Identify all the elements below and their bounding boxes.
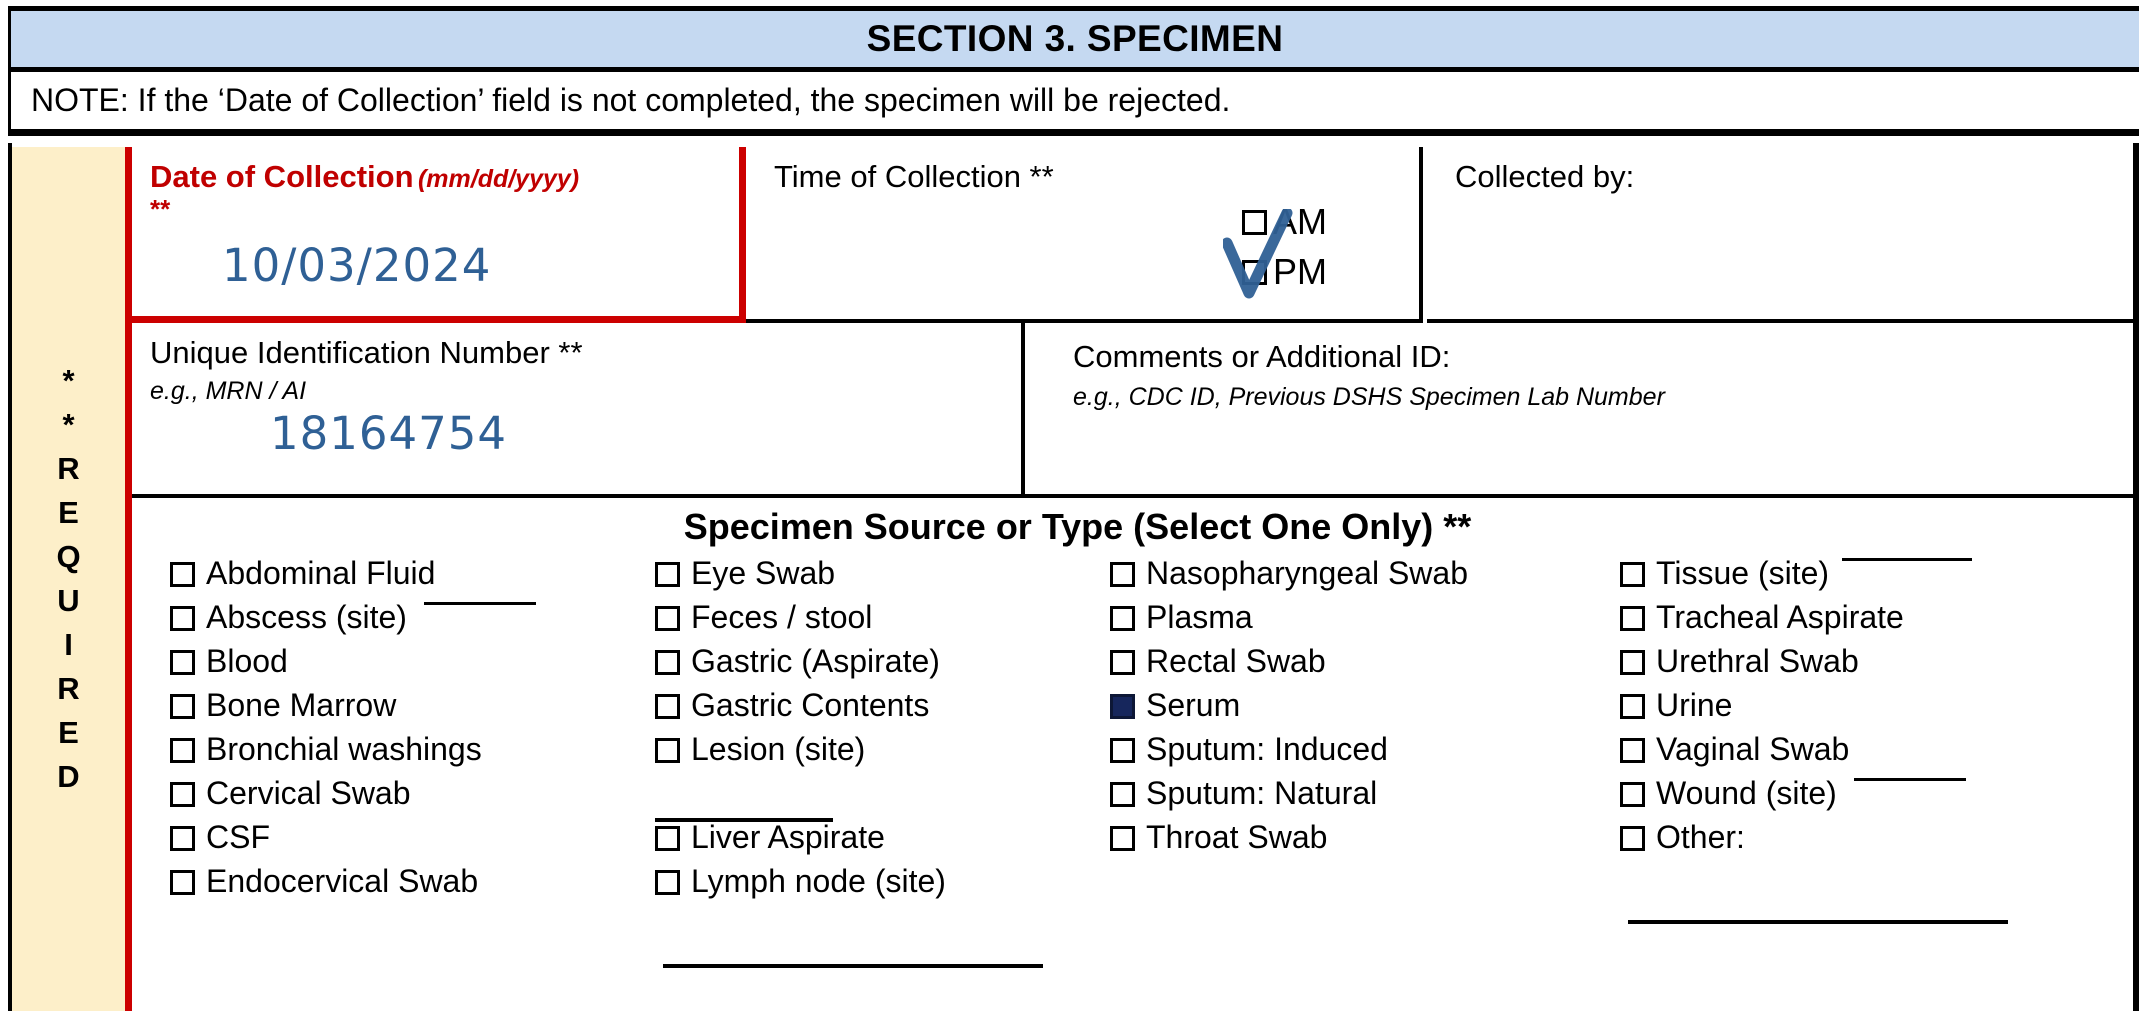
write-in-line[interactable]	[1854, 778, 1966, 781]
specimen-option-label: Throat Swab	[1146, 822, 1327, 852]
comments-label: Comments or Additional ID:	[1073, 339, 1450, 374]
specimen-option-label: Vaginal Swab	[1656, 734, 1849, 764]
note-text: NOTE: If the ‘Date of Collection’ field …	[11, 82, 1230, 119]
specimen-option-label: Other:	[1656, 822, 1745, 852]
specimen-option[interactable]: Rectal Swab	[1110, 646, 1620, 690]
unique-identification-number-cell[interactable]: Unique Identification Number ** e.g., MR…	[132, 323, 1025, 498]
specimen-option-label: Sputum: Induced	[1146, 734, 1388, 764]
specimen-option[interactable]: Other:	[1620, 822, 2100, 866]
required-char-9: D	[57, 755, 79, 799]
date-of-collection-cell[interactable]: Date of Collection (mm/dd/yyyy) ** 10/03…	[132, 147, 746, 323]
specimen-option[interactable]: Cervical Swab	[170, 778, 655, 822]
specimen-option[interactable]: Endocervical Swab	[170, 866, 655, 910]
write-in-line[interactable]	[663, 964, 1043, 968]
specimen-option[interactable]: Bone Marrow	[170, 690, 655, 734]
specimen-option-label: Rectal Swab	[1146, 646, 1326, 676]
checkbox-icon[interactable]	[1110, 694, 1135, 719]
specimen-option[interactable]: Blood	[170, 646, 655, 690]
specimen-source-title: Specimen Source or Type (Select One Only…	[132, 498, 2133, 548]
specimen-option[interactable]: Tracheal Aspirate	[1620, 602, 2100, 646]
checkbox-icon[interactable]	[655, 694, 680, 719]
am-checkbox-icon[interactable]	[1242, 210, 1267, 235]
specimen-blank-line[interactable]	[655, 910, 1110, 968]
time-of-collection-label: Time of Collection **	[774, 159, 1054, 194]
comments-or-additional-id-cell[interactable]: Comments or Additional ID: e.g., CDC ID,…	[1025, 323, 2133, 498]
checkbox-icon[interactable]	[170, 870, 195, 895]
required-red-divider	[125, 147, 132, 1011]
specimen-blank-line[interactable]	[1620, 866, 2100, 924]
unique-id-label: Unique Identification Number **	[150, 335, 583, 370]
checkbox-icon[interactable]	[1110, 782, 1135, 807]
specimen-option-label: Wound (site)	[1656, 778, 1837, 808]
checkbox-icon[interactable]	[1620, 606, 1645, 631]
pm-label: PM	[1273, 251, 1327, 293]
required-char-5: U	[57, 579, 79, 623]
specimen-option[interactable]: Sputum: Induced	[1110, 734, 1620, 778]
checkbox-icon[interactable]	[655, 738, 680, 763]
specimen-option-label: CSF	[206, 822, 270, 852]
pm-option[interactable]: PM	[1242, 251, 1327, 293]
specimen-form-page: SECTION 3. SPECIMEN NOTE: If the ‘Date o…	[0, 0, 2145, 1018]
checkbox-icon[interactable]	[1110, 562, 1135, 587]
specimen-option[interactable]: Urethral Swab	[1620, 646, 2100, 690]
specimen-option-label: Lymph node (site)	[691, 866, 946, 896]
specimen-option-label: Cervical Swab	[206, 778, 411, 808]
specimen-option-label: Urine	[1656, 690, 1732, 720]
specimen-option-label: Serum	[1146, 690, 1240, 720]
checkbox-icon[interactable]	[655, 562, 680, 587]
checkbox-icon[interactable]	[170, 826, 195, 851]
specimen-option-label: Eye Swab	[691, 558, 835, 588]
specimen-option-label: Gastric Contents	[691, 690, 929, 720]
checkbox-icon[interactable]	[1110, 738, 1135, 763]
unique-id-value[interactable]: 18164754	[132, 405, 1021, 460]
specimen-option[interactable]: Gastric (Aspirate)	[655, 646, 1110, 690]
specimen-source-section: Specimen Source or Type (Select One Only…	[132, 498, 2133, 1011]
specimen-option-label: Plasma	[1146, 602, 1253, 632]
checkbox-icon[interactable]	[170, 650, 195, 675]
specimen-option-label: Nasopharyngeal Swab	[1146, 558, 1468, 588]
checkbox-icon[interactable]	[655, 870, 680, 895]
section-header: SECTION 3. SPECIMEN	[8, 6, 2139, 72]
specimen-option[interactable]: Abdominal Fluid	[170, 558, 655, 602]
checkbox-icon[interactable]	[170, 562, 195, 587]
specimen-option-label: Liver Aspirate	[691, 822, 885, 852]
specimen-option[interactable]: Abscess (site)	[170, 602, 655, 646]
specimen-blank-line[interactable]	[655, 778, 1110, 822]
checkbox-icon[interactable]	[1620, 826, 1645, 851]
specimen-option-label: Feces / stool	[691, 602, 872, 632]
specimen-option-label: Lesion (site)	[691, 734, 865, 764]
collected-by-cell[interactable]: Collected by:	[1427, 147, 2133, 323]
checkbox-icon[interactable]	[655, 826, 680, 851]
comments-hint: e.g., CDC ID, Previous DSHS Specimen Lab…	[1073, 383, 1665, 411]
specimen-option[interactable]: CSF	[170, 822, 655, 866]
specimen-option[interactable]: Lesion (site)	[655, 734, 1110, 778]
specimen-option-label: Bone Marrow	[206, 690, 396, 720]
date-of-collection-value[interactable]: 10/03/2024	[132, 225, 739, 292]
specimen-option[interactable]: Gastric Contents	[655, 690, 1110, 734]
checkbox-icon[interactable]	[1620, 694, 1645, 719]
collected-by-label: Collected by:	[1455, 159, 1634, 194]
checkbox-icon[interactable]	[170, 606, 195, 631]
specimen-option-label: Tracheal Aspirate	[1656, 602, 1904, 632]
am-option[interactable]: AM	[1242, 201, 1327, 243]
specimen-column-4: Tissue (site)Tracheal AspirateUrethral S…	[1620, 558, 2100, 968]
required-char-7: R	[57, 667, 79, 711]
date-format-hint: (mm/dd/yyyy)	[418, 165, 579, 193]
checkbox-icon[interactable]	[1110, 606, 1135, 631]
specimen-option[interactable]: Throat Swab	[1110, 822, 1620, 866]
required-char-0: *	[62, 359, 74, 403]
required-sidebar: * * R E Q U I R E D	[12, 147, 125, 1011]
section-header-title: SECTION 3. SPECIMEN	[867, 18, 1284, 60]
required-char-4: Q	[56, 535, 80, 579]
specimen-column-2: Eye SwabFeces / stoolGastric (Aspirate)G…	[655, 558, 1110, 968]
checkbox-icon[interactable]	[170, 738, 195, 763]
pm-checkbox-icon[interactable]	[1242, 260, 1267, 285]
specimen-option-label: Blood	[206, 646, 288, 676]
specimen-option[interactable]: Nasopharyngeal Swab	[1110, 558, 1620, 602]
specimen-option-label: Tissue (site)	[1656, 558, 1829, 588]
specimen-option[interactable]: Bronchial washings	[170, 734, 655, 778]
date-required-marker: **	[150, 195, 739, 225]
specimen-option-label: Endocervical Swab	[206, 866, 478, 896]
checkbox-icon[interactable]	[1110, 826, 1135, 851]
specimen-option[interactable]: Vaginal Swab	[1620, 734, 2100, 778]
specimen-option-label: Abscess (site)	[206, 602, 407, 632]
specimen-option-label: Sputum: Natural	[1146, 778, 1377, 808]
specimen-option[interactable]: Serum	[1110, 690, 1620, 734]
specimen-option[interactable]: Feces / stool	[655, 602, 1110, 646]
checkbox-icon[interactable]	[170, 694, 195, 719]
specimen-option[interactable]: Urine	[1620, 690, 2100, 734]
note-row: NOTE: If the ‘Date of Collection’ field …	[8, 72, 2139, 136]
checkbox-icon[interactable]	[1620, 782, 1645, 807]
write-in-line[interactable]	[1628, 920, 2008, 924]
specimen-option[interactable]: Sputum: Natural	[1110, 778, 1620, 822]
specimen-option-label: Gastric (Aspirate)	[691, 646, 940, 676]
specimen-option-label: Abdominal Fluid	[206, 558, 435, 588]
specimen-option-columns: Abdominal FluidAbscess (site)BloodBone M…	[132, 548, 2133, 968]
required-char-1: *	[62, 403, 74, 447]
specimen-column-1: Abdominal FluidAbscess (site)BloodBone M…	[132, 558, 655, 968]
required-char-8: E	[58, 711, 79, 755]
checkbox-icon[interactable]	[1110, 650, 1135, 675]
specimen-option-label: Urethral Swab	[1656, 646, 1859, 676]
time-of-collection-cell[interactable]: Time of Collection ** AM PM	[746, 147, 1423, 323]
checkbox-icon[interactable]	[655, 606, 680, 631]
specimen-column-3: Nasopharyngeal SwabPlasmaRectal SwabSeru…	[1110, 558, 1620, 968]
checkbox-icon[interactable]	[1620, 650, 1645, 675]
unique-id-hint: e.g., MRN / AI	[150, 377, 306, 405]
checkbox-icon[interactable]	[170, 782, 195, 807]
am-label: AM	[1273, 201, 1327, 243]
required-char-6: I	[64, 623, 73, 667]
specimen-option-label: Bronchial washings	[206, 734, 482, 764]
checkbox-icon[interactable]	[1620, 562, 1645, 587]
checkbox-icon[interactable]	[1620, 738, 1645, 763]
date-of-collection-label: Date of Collection	[150, 159, 414, 194]
specimen-option[interactable]: Plasma	[1110, 602, 1620, 646]
specimen-option[interactable]: Liver Aspirate	[655, 822, 1110, 866]
specimen-option[interactable]: Lymph node (site)	[655, 866, 1110, 910]
required-char-3: E	[58, 491, 79, 535]
required-char-2: R	[57, 447, 79, 491]
write-in-line[interactable]	[424, 602, 536, 605]
specimen-option[interactable]: Wound (site)	[1620, 778, 2100, 822]
write-in-line[interactable]	[1842, 558, 1972, 561]
checkbox-icon[interactable]	[655, 650, 680, 675]
specimen-option[interactable]: Eye Swab	[655, 558, 1110, 602]
ampm-group[interactable]: AM PM	[1242, 201, 1327, 293]
specimen-option[interactable]: Tissue (site)	[1620, 558, 2100, 602]
